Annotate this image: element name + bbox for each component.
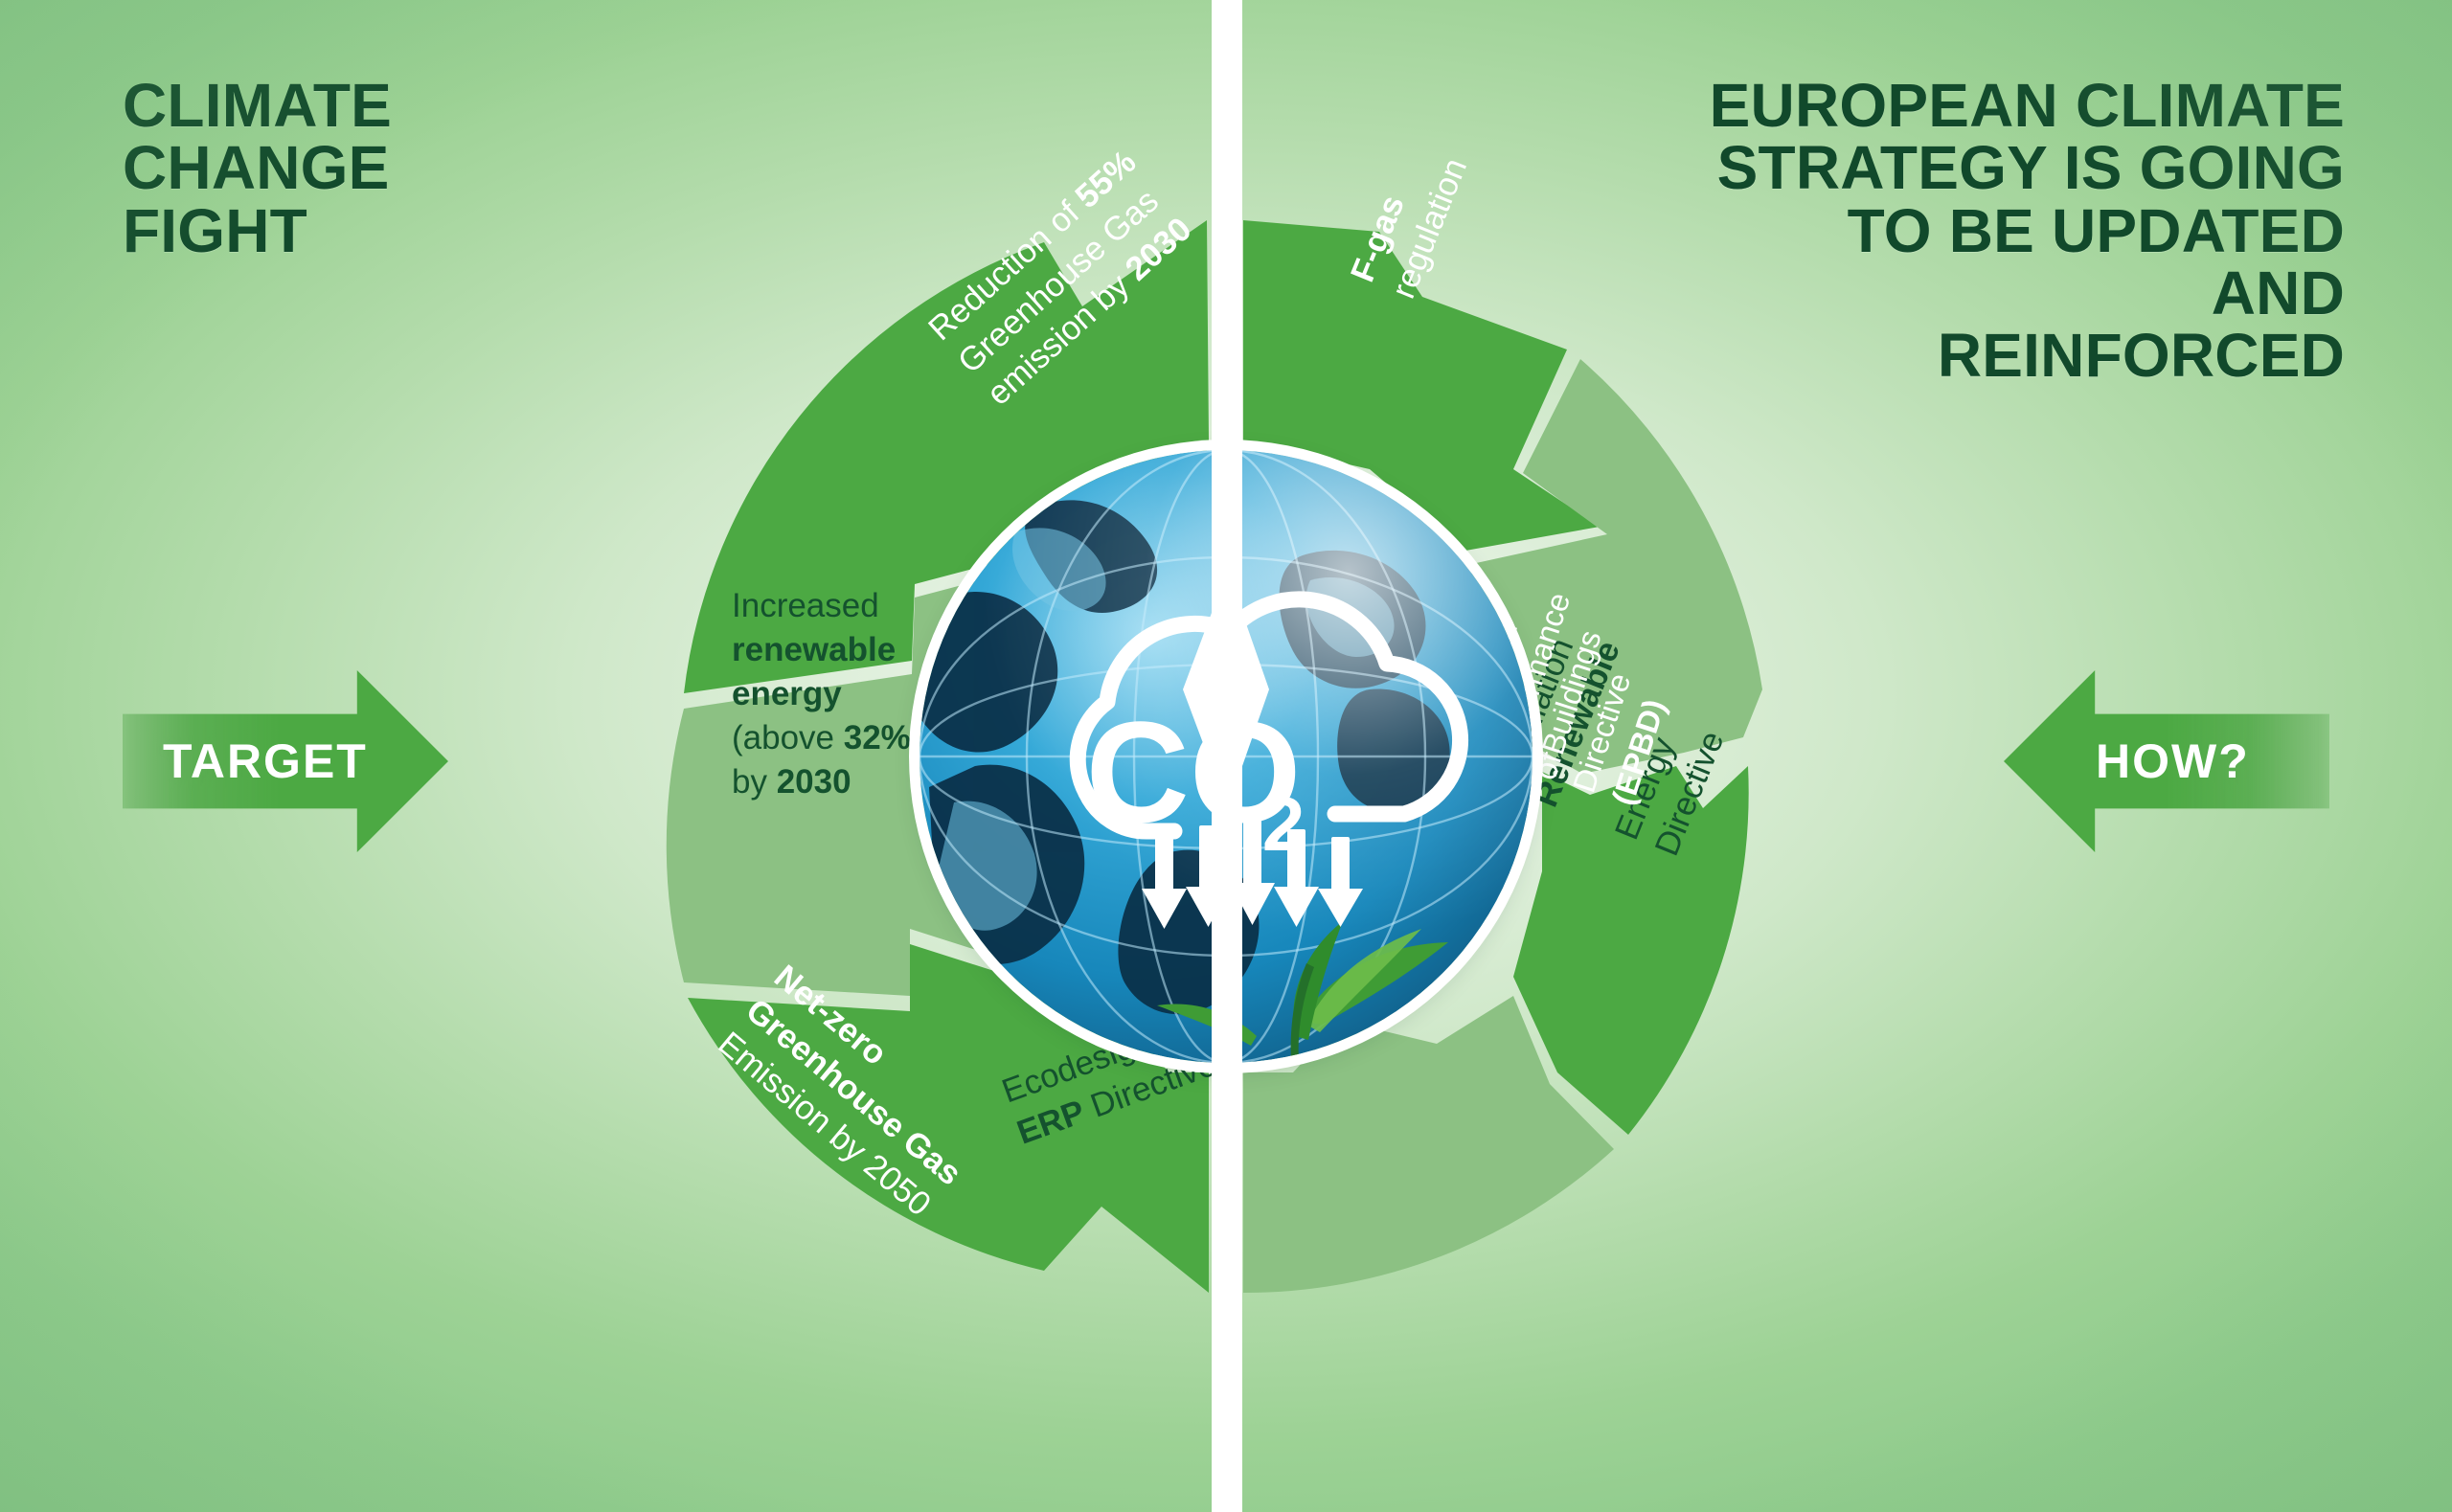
title-left-line-1: CLIMATE — [123, 75, 716, 137]
how-arrow-label: HOW? — [2096, 733, 2250, 789]
title-right-line-2: STRATEGY IS GOING — [1483, 137, 2345, 199]
how-arrow[interactable]: HOW? — [2004, 670, 2329, 852]
title-right-line-1: EUROPEAN CLIMATE — [1483, 75, 2345, 137]
title-right-line-3: TO BE UPDATED — [1483, 200, 2345, 262]
target-arrow-label: TARGET — [163, 733, 368, 789]
target-arrow[interactable]: TARGET — [123, 670, 448, 852]
title-right-line-5: REINFORCED — [1483, 325, 2345, 387]
title-right-line-4: AND — [1483, 262, 2345, 325]
infographic-poster: Reduction of 55%Greenhouse Gasemission b… — [0, 0, 2452, 1512]
title-left-line-2: CHANGE — [123, 137, 716, 199]
page-title-right: EUROPEAN CLIMATE STRATEGY IS GOING TO BE… — [1483, 75, 2345, 387]
page-title-left: CLIMATE CHANGE FIGHT — [123, 75, 716, 262]
title-left-line-3: FIGHT — [123, 200, 716, 262]
earth-globe: CO 2 — [919, 450, 1532, 1063]
segment-epbd[interactable] — [1513, 766, 1749, 1135]
